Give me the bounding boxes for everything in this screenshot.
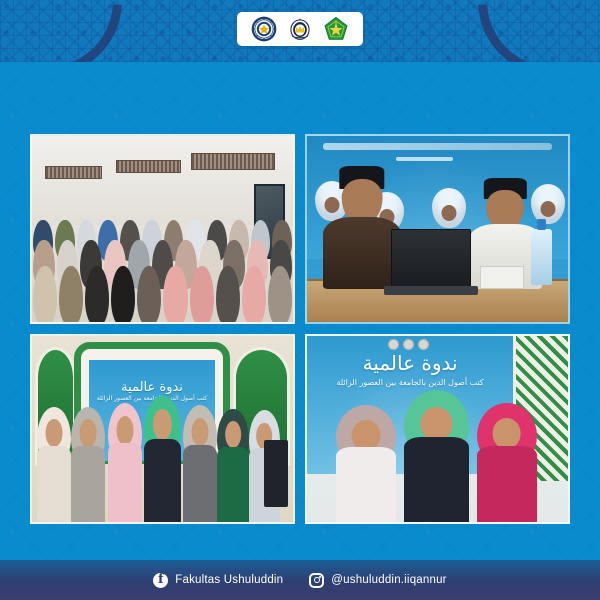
facebook-glyph: f bbox=[158, 573, 164, 586]
table-box bbox=[480, 266, 524, 288]
kementerian-agama-pentagon-logo-icon bbox=[323, 16, 349, 42]
banner-dot bbox=[388, 339, 399, 350]
face bbox=[116, 416, 133, 445]
woman-left bbox=[336, 405, 396, 522]
wall-vent bbox=[45, 166, 102, 179]
group-member bbox=[183, 405, 217, 522]
face bbox=[225, 421, 241, 448]
laptop bbox=[391, 229, 471, 287]
face bbox=[46, 419, 63, 447]
group-member bbox=[37, 407, 71, 522]
attendee bbox=[85, 266, 109, 324]
face bbox=[351, 420, 380, 450]
banner-dot bbox=[403, 339, 414, 350]
banner-title-text: ندوة عالمية bbox=[121, 380, 183, 395]
photo-gallery-grid: Seated audience of female students weari… bbox=[30, 134, 570, 528]
dress bbox=[71, 446, 105, 522]
footer-bar: f Fakultas Ushuluddin @ushuluddin.iiqann… bbox=[0, 560, 600, 600]
banner-logo-dots bbox=[385, 338, 432, 351]
instagram-link[interactable]: @ushuluddin.iiqannur bbox=[309, 573, 446, 588]
speaker-left bbox=[323, 173, 401, 288]
attendee bbox=[111, 266, 135, 324]
banner-dot bbox=[418, 339, 429, 350]
facebook-handle: Fakultas Ushuluddin bbox=[175, 574, 283, 586]
backdrop-subtitle-line bbox=[396, 157, 453, 161]
instagram-icon[interactable] bbox=[309, 573, 324, 588]
group-member bbox=[217, 409, 248, 522]
face bbox=[80, 419, 97, 447]
photo-three-women[interactable]: ندوة عالمية كتب أصول الدين بالجامعة بين … bbox=[305, 334, 570, 524]
institution-logo-card bbox=[237, 12, 363, 46]
ministry-crown-emblem-icon bbox=[287, 16, 313, 42]
backdrop-title-line bbox=[323, 143, 553, 150]
dress bbox=[217, 447, 248, 522]
wall-vent bbox=[191, 153, 275, 170]
wall-vent bbox=[116, 160, 181, 173]
dress bbox=[336, 447, 396, 522]
water-bottle bbox=[531, 229, 552, 285]
facebook-link[interactable]: f Fakultas Ushuluddin bbox=[153, 573, 283, 588]
attendee bbox=[137, 266, 161, 324]
dress bbox=[183, 445, 217, 522]
dress bbox=[404, 437, 469, 522]
woman-center bbox=[404, 390, 469, 522]
dress bbox=[144, 439, 181, 522]
attendee bbox=[242, 266, 266, 324]
dress bbox=[477, 446, 537, 522]
photo-audience-hall[interactable]: Seated audience of female students weari… bbox=[30, 134, 295, 324]
speaker-batik-shirt bbox=[323, 217, 401, 288]
banner-subtitle-text: كتب أصول الدين بالجامعة بين العصور الزائ… bbox=[307, 378, 513, 387]
banner-title: ندوة عالمية كتب أصول الدين بالجامعة بين … bbox=[307, 351, 513, 387]
iiq-an-nur-university-seal-icon bbox=[251, 16, 277, 42]
instagram-handle: @ushuluddin.iiqannur bbox=[331, 574, 446, 586]
attendee bbox=[59, 266, 83, 324]
dress bbox=[108, 443, 142, 522]
dress bbox=[37, 446, 71, 522]
attendee bbox=[33, 266, 57, 324]
photo-group-mosque-hall[interactable]: ندوة عالمية كتب أصول الدين بالجامعة بين … bbox=[30, 334, 295, 524]
attendee bbox=[268, 266, 292, 324]
attendee bbox=[163, 266, 187, 324]
facebook-icon[interactable]: f bbox=[153, 573, 168, 588]
group-member bbox=[71, 407, 105, 522]
banner-title-text: ندوة عالمية bbox=[363, 351, 458, 375]
photo-speakers-panel[interactable]: Two male speakers wearing black peci cap… bbox=[305, 134, 570, 324]
group-member bbox=[144, 396, 181, 522]
group-member bbox=[108, 403, 142, 522]
face bbox=[192, 418, 209, 446]
pa-speaker bbox=[264, 440, 287, 507]
attendee bbox=[190, 266, 214, 324]
face bbox=[492, 418, 521, 449]
attendee bbox=[216, 266, 240, 324]
audience-front-row bbox=[32, 266, 293, 324]
woman-right bbox=[477, 403, 537, 522]
poster-canvas: Seated audience of female students weari… bbox=[0, 0, 600, 600]
